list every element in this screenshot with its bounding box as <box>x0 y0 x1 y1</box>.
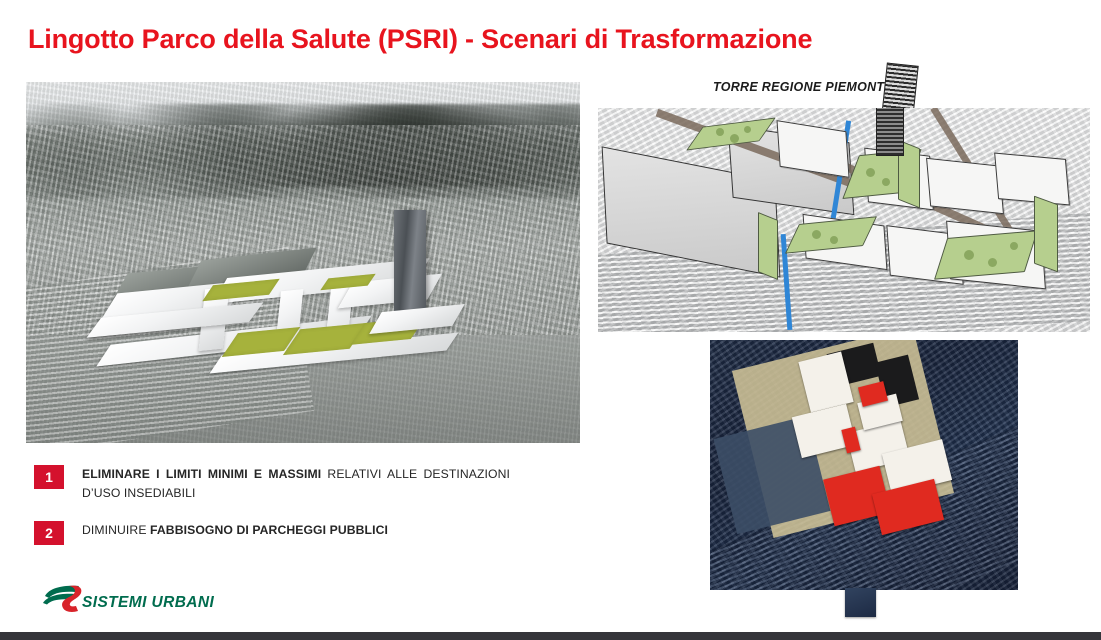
sketch-tree <box>964 250 974 260</box>
sketch-tower <box>876 108 904 156</box>
bullet-number-badge: 2 <box>34 521 64 545</box>
sketch-block <box>994 153 1070 206</box>
page-title: Lingotto Parco della Salute (PSRI) - Sce… <box>28 24 812 55</box>
list-item: 1 ELIMINARE I LIMITI MINIMI E MASSIMI RE… <box>34 465 554 503</box>
bullet-text: DIMINUIRE FABBISOGNO DI PARCHEGGI PUBBLI… <box>82 521 510 540</box>
sketch-block <box>926 158 1004 215</box>
bullet-text-bold: FABBISOGNO DI PARCHEGGI PUBBLICI <box>150 523 388 537</box>
sketch-tree <box>744 126 751 133</box>
sketch-tree <box>882 178 890 186</box>
fs-trenitalia-logo-icon <box>40 583 88 615</box>
bullet-text-bold: ELIMINARE I LIMITI MINIMI E MASSIMI <box>82 467 321 481</box>
sketch-tree <box>830 236 838 244</box>
sketch-tree <box>988 258 997 267</box>
torre-regione-piemonte-volume <box>394 210 426 316</box>
bullet-number-badge: 1 <box>34 465 64 489</box>
sketch-green-court <box>758 212 778 280</box>
fs-sistemi-urbani-logo: SISTEMI URBANI <box>40 583 260 619</box>
sketch-green-court <box>1034 196 1058 273</box>
sketch-tree <box>866 168 875 177</box>
sketch-tree <box>716 128 724 136</box>
key-points-list: 1 ELIMINARE I LIMITI MINIMI E MASSIMI RE… <box>34 465 554 563</box>
night-aerial-plan <box>710 340 1018 590</box>
torre-regione-piemonte-label: TORRE REGIONE PIEMONTE <box>713 80 893 94</box>
sketch-tree <box>1010 242 1018 250</box>
sketch-axonometric-plan <box>598 108 1090 332</box>
aerial-masterplan-render <box>26 82 580 443</box>
sketch-tree <box>812 230 821 239</box>
bottom-bar <box>0 632 1101 640</box>
bullet-text: ELIMINARE I LIMITI MINIMI E MASSIMI RELA… <box>82 465 510 503</box>
sketch-tree <box>730 134 739 143</box>
list-item: 2 DIMINUIRE FABBISOGNO DI PARCHEGGI PUBB… <box>34 521 554 545</box>
night-plan-extension-tab <box>845 588 876 617</box>
bullet-text-lead: DIMINUIRE <box>82 523 150 537</box>
logo-text: SISTEMI URBANI <box>82 594 214 612</box>
